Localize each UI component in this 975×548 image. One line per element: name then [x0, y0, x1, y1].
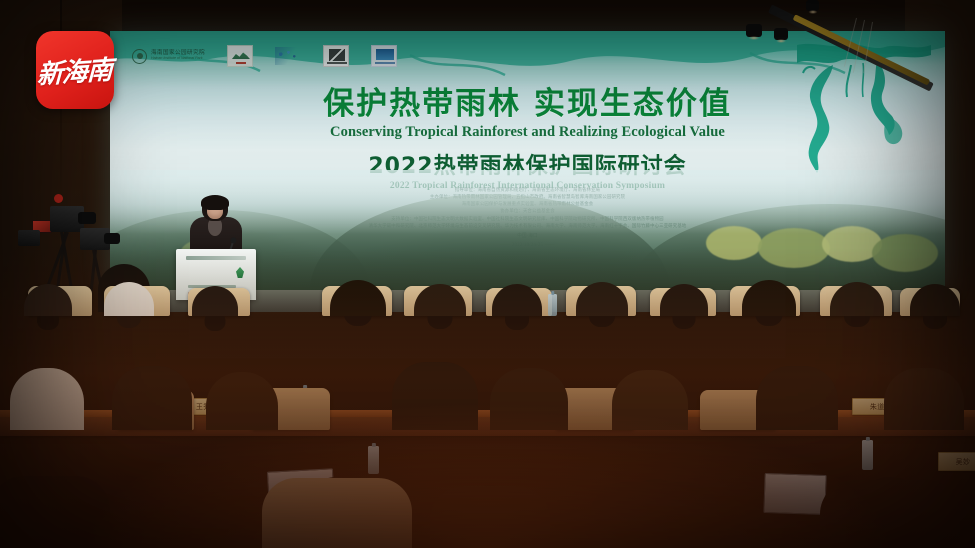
camera-tally-light: [54, 194, 63, 203]
audience-member: [590, 432, 720, 548]
shoulders: [910, 284, 960, 316]
logo-hainan-institute-en: Hainan Institute of National Park: [151, 57, 205, 61]
audience-member: [112, 334, 192, 430]
shoulders: [262, 478, 412, 548]
audience-member: [884, 334, 964, 430]
shoulders: [206, 372, 278, 430]
shoulders: [10, 368, 84, 430]
shoulders: [612, 370, 688, 430]
shoulders: [392, 362, 478, 430]
conference-photograph: 海南国家公园研究院 Hainan Institute of National P…: [0, 0, 975, 548]
water-bottle: [548, 294, 557, 316]
logo-rainforest-blue: [275, 45, 301, 67]
partner-logo-row: 海南国家公园研究院 Hainan Institute of National P…: [132, 45, 397, 67]
audience-member: [392, 326, 478, 430]
shoulders: [104, 282, 154, 316]
stage-light: [746, 24, 762, 37]
audience-row-far: [0, 250, 975, 316]
camera-body: [18, 230, 40, 246]
shoulders: [430, 486, 550, 548]
logo-hainan-institute: 海南国家公园研究院 Hainan Institute of National P…: [132, 49, 205, 64]
audience-member: [262, 430, 412, 548]
shoulders: [0, 476, 110, 548]
logo-national-park: [227, 45, 253, 67]
audience-member: [490, 336, 568, 430]
institute-seal-icon: [132, 49, 147, 64]
shoulders: [192, 286, 238, 316]
audience-member: [756, 332, 838, 430]
logo-blue-badge: [371, 45, 397, 67]
audience-member: [612, 338, 688, 430]
shoulders: [492, 284, 542, 316]
audience-member: [330, 252, 386, 316]
stage-light: [774, 28, 788, 40]
shoulders: [830, 282, 884, 316]
audience-member: [492, 260, 542, 316]
audience-member: [414, 258, 466, 316]
audience-member: [104, 258, 154, 316]
stage-light: [806, 0, 819, 11]
audience-member: [206, 342, 278, 430]
shoulders: [576, 282, 628, 316]
audience-member: [830, 256, 884, 316]
shoulders: [24, 284, 72, 316]
xinhainan-logo-text: 新海南: [37, 49, 113, 91]
audience-member: [910, 260, 960, 316]
shoulders: [820, 480, 960, 548]
shoulders: [660, 284, 708, 316]
headline-english: Conserving Tropical Rainforest and Reali…: [110, 124, 945, 141]
audience-member: [660, 260, 708, 316]
shoulders: [756, 366, 838, 430]
headline-chinese: 保护热带雨林 实现生态价值: [110, 78, 945, 123]
audience-member: [820, 430, 960, 548]
camera-crane-jib: [760, 0, 975, 74]
audience-member: [192, 264, 238, 316]
audience-member: [0, 430, 110, 548]
shoulders: [330, 280, 386, 316]
audience-member: [742, 254, 796, 316]
audience-row-mid: [0, 320, 975, 430]
speaker-hair: [201, 195, 229, 210]
audience-member: [576, 256, 628, 316]
audience-member: [24, 262, 72, 316]
shoulders: [742, 280, 796, 316]
xinhainan-logo: 新海南: [36, 31, 114, 109]
audience-member: [10, 338, 84, 430]
shoulders: [490, 368, 568, 430]
shoulders: [414, 284, 466, 316]
audience-row-front: [0, 428, 975, 548]
shoulders: [590, 482, 720, 548]
logo-monochrome-mark: [323, 45, 349, 67]
shoulders: [884, 368, 964, 430]
audience-member: [430, 438, 550, 548]
shoulders: [112, 366, 192, 430]
